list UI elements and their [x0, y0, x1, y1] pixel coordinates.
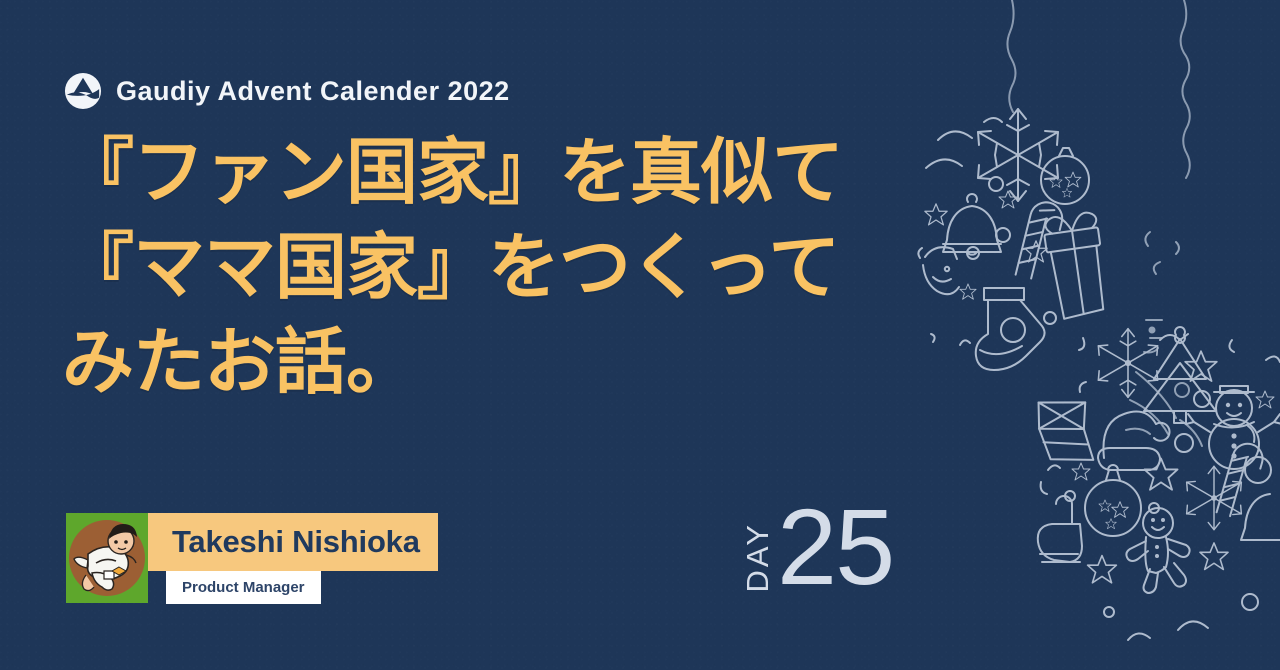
author-text-column: Takeshi Nishioka Product Manager — [148, 513, 438, 604]
arc-line — [938, 131, 972, 140]
bell-icon — [1241, 494, 1280, 540]
page-title: 『ファン国家』を真似て 『ママ国家』をつくって みたお話。 — [62, 126, 942, 411]
accent-line — [1080, 382, 1086, 392]
star-icon — [999, 191, 1017, 208]
star-icon — [1025, 241, 1047, 262]
dot-icon — [1001, 318, 1025, 342]
dot-icon — [996, 228, 1010, 242]
gingerbread-man-icon — [1126, 508, 1189, 593]
ornament-ball-icon — [1085, 465, 1141, 536]
dot-icon — [1044, 312, 1056, 324]
brand-row: Gaudiy Advent Calender 2022 — [64, 72, 510, 110]
author-badge: Takeshi Nishioka Product Manager — [66, 513, 438, 604]
accent-line — [1266, 356, 1280, 362]
accent-line — [1041, 482, 1047, 494]
gaudiy-logo-icon — [64, 72, 102, 110]
star-icon — [1072, 463, 1090, 480]
brand-title: Gaudiy Advent Calender 2022 — [116, 76, 510, 107]
judo-illustration-avatar — [66, 513, 148, 603]
star-icon — [1256, 391, 1274, 408]
snowflake-icon — [1187, 466, 1242, 529]
ornament-accents-middle — [1126, 232, 1202, 446]
dot-icon — [1242, 594, 1258, 610]
santa-hat-icon — [1098, 412, 1170, 470]
gift-box-icon — [1035, 395, 1096, 469]
accent-line — [1229, 340, 1234, 352]
dot-icon — [1194, 391, 1210, 407]
dot-icon — [1104, 607, 1114, 617]
christmas-tree-icon — [1144, 327, 1216, 423]
gift-box-icon — [1042, 211, 1110, 320]
snowman-icon — [1186, 386, 1280, 469]
title-line-1: 『ファン国家』を真似て — [62, 126, 942, 221]
day-number: 25 — [777, 497, 893, 596]
dot-icon — [989, 177, 1003, 191]
ornament-cluster-upper — [918, 109, 1109, 370]
star-icon — [1144, 458, 1177, 489]
accent-line — [1048, 465, 1060, 470]
advent-calendar-cover: Gaudiy Advent Calender 2022 『ファン国家』を真似て … — [0, 0, 1280, 670]
star-icon — [960, 284, 976, 299]
accent-line — [1160, 334, 1188, 340]
dot-icon — [1245, 457, 1271, 483]
candy-cane-icon — [1217, 440, 1267, 520]
accent-line — [984, 118, 1002, 122]
day-label: DAY — [742, 522, 773, 592]
author-role: Product Manager — [166, 571, 321, 604]
ornament-cluster-lower — [1035, 327, 1280, 640]
snowflake-icon — [1098, 329, 1157, 398]
dot-icon — [1149, 503, 1159, 513]
dot-icon — [1175, 434, 1193, 452]
avatar — [66, 513, 148, 603]
accent-line — [1128, 633, 1150, 640]
author-name: Takeshi Nishioka — [148, 513, 438, 571]
hanging-string-left — [1007, 0, 1015, 112]
ornament-ball-icon — [1041, 148, 1089, 204]
hanging-string-right — [1181, 0, 1190, 178]
dot-icon — [1065, 491, 1075, 501]
star-icon — [1088, 556, 1117, 583]
bell-icon — [943, 194, 1001, 255]
accent-line — [960, 340, 970, 345]
title-line-2: 『ママ国家』をつくって — [62, 221, 942, 316]
title-line-3: みたお話。 — [62, 316, 942, 411]
mitten-icon — [1038, 496, 1082, 562]
stocking-icon — [976, 288, 1045, 370]
dot-icon — [967, 247, 979, 259]
accent-line — [1079, 338, 1084, 350]
star-icon — [1185, 351, 1217, 381]
star-icon — [1200, 543, 1228, 570]
snowflake-icon — [978, 109, 1058, 201]
candy-cane-icon — [1016, 199, 1066, 282]
day-counter: DAY 25 — [742, 497, 893, 596]
accent-line — [1178, 621, 1208, 630]
